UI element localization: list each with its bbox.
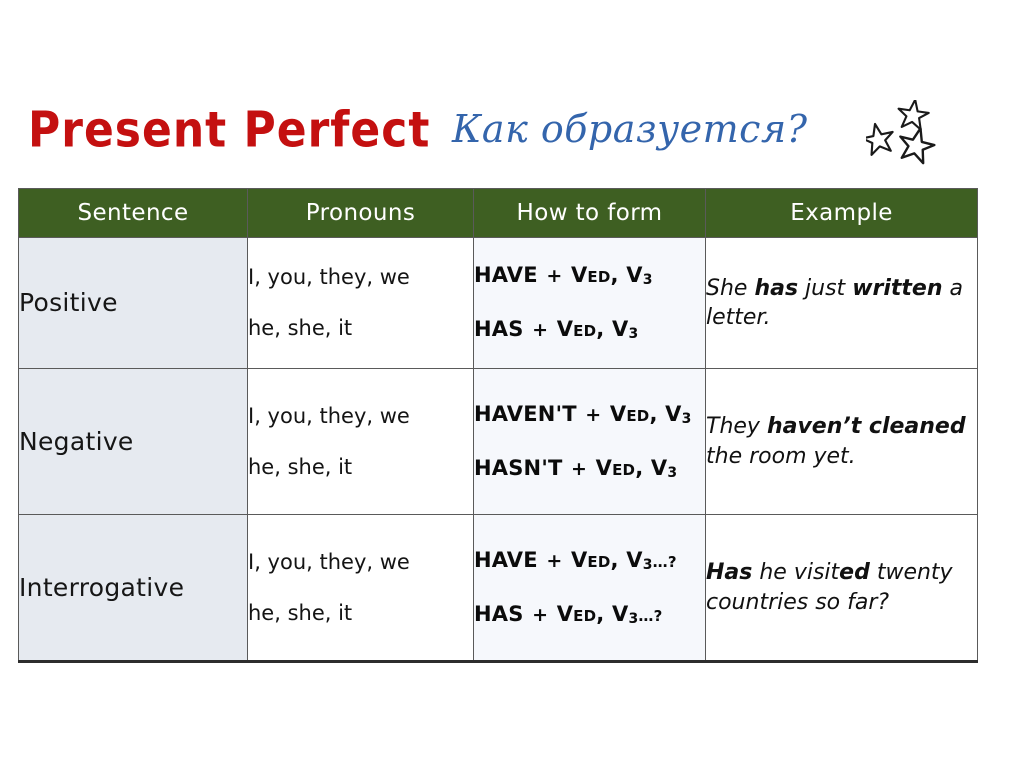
formula-have-question: HAVE + VED, V3…?	[474, 550, 705, 572]
pronoun-line-plural: I, you, they, we	[248, 552, 473, 573]
table-row: Interrogative I, you, they, we he, she, …	[19, 515, 978, 662]
table-header-row: Sentence Pronouns How to form Example	[19, 189, 978, 238]
example-text: he visit	[752, 560, 839, 585]
cell-example: They haven’t cleaned the room yet.	[706, 369, 978, 515]
table-row: Positive I, you, they, we he, she, it HA…	[19, 238, 978, 369]
example-text: She	[706, 276, 754, 301]
cell-how-to-form: HAVEN'T + VED, V3 HASN'T + VED, V3	[474, 369, 706, 515]
pronoun-line-plural: I, you, they, we	[248, 267, 473, 288]
cell-example: She has just written a letter.	[706, 238, 978, 369]
pronoun-line-plural: I, you, they, we	[248, 406, 473, 427]
example-text: They	[706, 414, 767, 439]
cell-example: Has he visited twenty countries so far?	[706, 515, 978, 662]
cell-pronouns: I, you, they, we he, she, it	[248, 238, 474, 369]
pronoun-line-singular: he, she, it	[248, 603, 473, 624]
table-body: Positive I, you, they, we he, she, it HA…	[19, 238, 978, 662]
table-row: Negative I, you, they, we he, she, it HA…	[19, 369, 978, 515]
column-header-how-to-form: How to form	[474, 189, 706, 238]
column-header-example: Example	[706, 189, 978, 238]
formula-havent: HAVEN'T + VED, V3	[474, 404, 705, 426]
cell-sentence-type: Interrogative	[19, 515, 248, 662]
pronoun-line-singular: he, she, it	[248, 457, 473, 478]
page-title: Present Perfect	[28, 96, 430, 165]
grammar-table-container: Sentence Pronouns How to form Example Po…	[18, 188, 977, 663]
pronoun-line-singular: he, she, it	[248, 318, 473, 339]
example-text-bold: Has	[706, 560, 752, 585]
cell-how-to-form: HAVE + VED, V3 HAS + VED, V3	[474, 238, 706, 369]
stars-decoration-icon	[866, 100, 966, 170]
example-text-bold: has	[754, 276, 798, 301]
cell-sentence-type: Negative	[19, 369, 248, 515]
formula-have: HAVE + VED, V3	[474, 265, 705, 287]
formula-hasnt: HASN'T + VED, V3	[474, 458, 705, 480]
example-text-bold: written	[852, 276, 942, 301]
cell-pronouns: I, you, they, we he, she, it	[248, 369, 474, 515]
page-subtitle-russian: Как образуется?	[452, 100, 808, 158]
example-text: the room yet.	[706, 444, 856, 469]
column-header-sentence: Sentence	[19, 189, 248, 238]
formula-has-question: HAS + VED, V3…?	[474, 604, 705, 626]
present-perfect-table: Sentence Pronouns How to form Example Po…	[18, 188, 978, 663]
cell-pronouns: I, you, they, we he, she, it	[248, 515, 474, 662]
cell-sentence-type: Positive	[19, 238, 248, 369]
example-text: just	[798, 276, 852, 301]
example-text-bold: ed	[839, 560, 870, 585]
formula-has: HAS + VED, V3	[474, 319, 705, 341]
column-header-pronouns: Pronouns	[248, 189, 474, 238]
example-text-bold: haven’t cleaned	[767, 414, 966, 439]
cell-how-to-form: HAVE + VED, V3…? HAS + VED, V3…?	[474, 515, 706, 662]
